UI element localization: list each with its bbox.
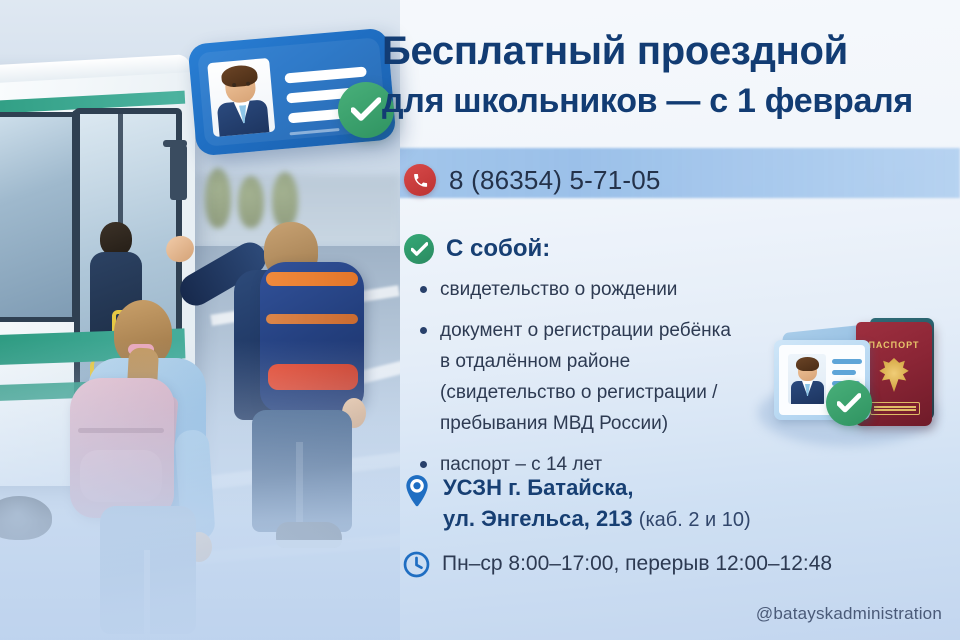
address-line-1: УСЗН г. Батайска, [443,472,751,503]
list-item: свидетельство о рождении [414,274,834,305]
bring-list: свидетельство о рождении документ о реги… [414,274,834,490]
bus-mirror [170,145,187,200]
tree [205,168,231,228]
address-street: ул. Энгельса, 213 [443,506,633,531]
list-item-line: документ о регистрации ребёнка [440,315,834,346]
passport-bar [870,402,920,415]
list-item-line: в отдалённом районе [440,346,834,377]
id-card-photo [207,58,275,137]
passenger-head [100,222,132,256]
list-item: документ о регистрации ребёнка в отдалён… [414,315,834,439]
location-pin-icon [402,474,432,508]
tree [238,176,264,228]
id-document-text-line [832,359,862,364]
hours-text: Пн–ср 8:00–17:00, перерыв 12:00–12:48 [442,552,832,576]
hours-row: Пн–ср 8:00–17:00, перерыв 12:00–12:48 [402,550,832,578]
bring-heading-row: С собой: [404,234,550,264]
social-handle[interactable]: @batayskadministration [756,604,942,624]
phone-row[interactable]: 8 (86354) 5-71-05 [404,164,661,196]
tree [272,172,298,228]
phone-number: 8 (86354) 5-71-05 [449,165,661,196]
address-room: (каб. 2 и 10) [639,509,751,531]
bring-heading: С собой: [446,235,550,263]
backpack-orange-trim [266,272,358,286]
bus-window [0,112,78,322]
list-item-line: пребывания МВД России) [440,408,834,439]
list-item-line: (свидетельство о регистрации / [440,377,834,408]
id-document-text-line [832,370,856,375]
bottom-haze [0,340,400,640]
coat-of-arms-icon [878,358,910,392]
check-circle-icon [404,234,434,264]
page-title-line-1: Бесплатный проездной [382,26,948,76]
clock-icon [402,550,430,578]
page-title-line-2: для школьников — с 1 февраля [382,78,948,124]
address-row: УСЗН г. Батайска, ул. Энгельса, 213 (каб… [402,472,751,536]
phone-icon [404,164,436,196]
passport-label: ПАСПОРТ [864,340,924,350]
content-column: Бесплатный проездной для школьников — с … [382,26,948,124]
list-item-line: свидетельство о рождении [440,274,834,305]
address-line-2: ул. Энгельса, 213 (каб. 2 и 10) [443,503,751,536]
backpack-orange-trim [266,314,358,324]
poster: ПАСПОРТ [0,0,960,640]
address-text: УСЗН г. Батайска, ул. Энгельса, 213 (каб… [443,472,751,536]
